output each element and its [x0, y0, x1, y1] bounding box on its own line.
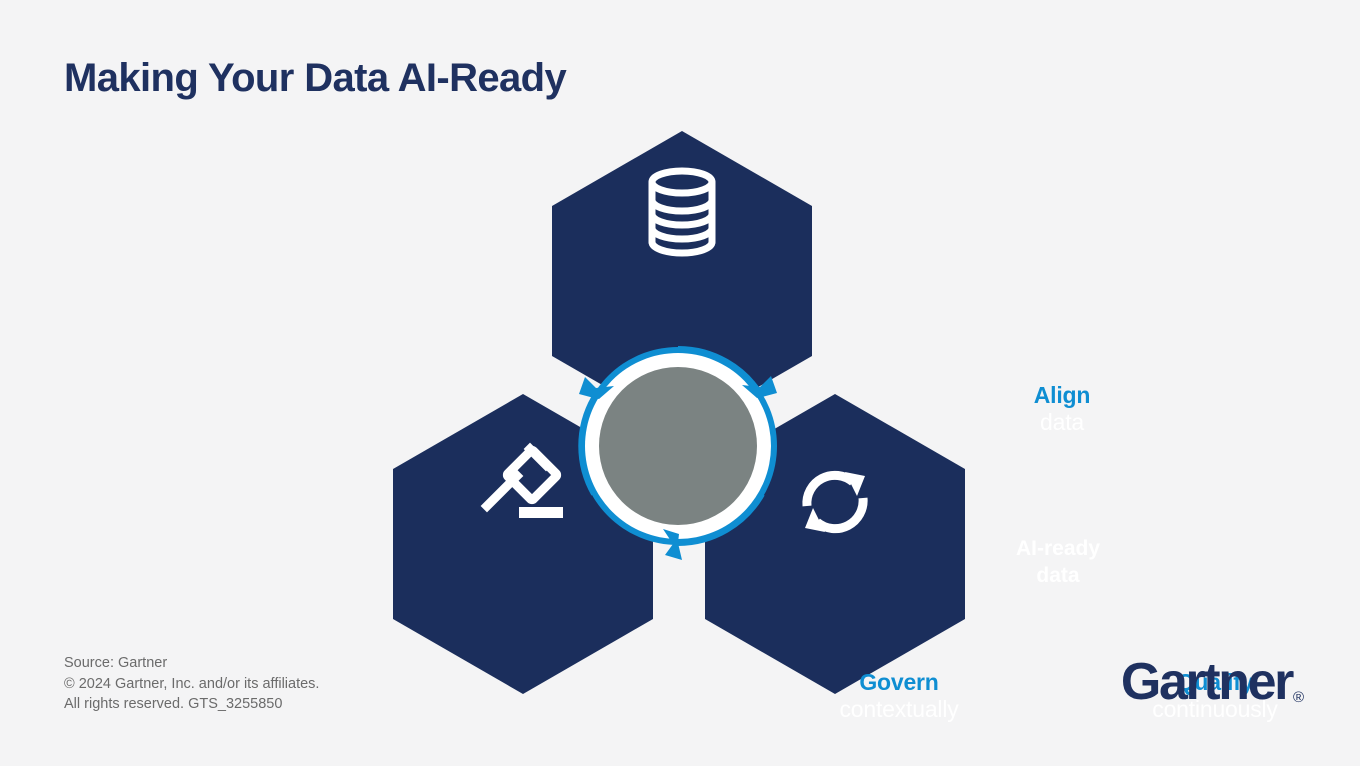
source-attribution: Source: Gartner © 2024 Gartner, Inc. and… — [64, 653, 319, 715]
slide-canvas: Making Your Data AI-Ready — [0, 0, 1360, 766]
registered-trademark-icon: ® — [1293, 690, 1304, 705]
rights-line: All rights reserved. GTS_3255850 — [64, 694, 319, 715]
hexagon-keyword-align: Align — [952, 382, 1172, 409]
center-label-line1: AI-ready — [978, 535, 1138, 562]
hexagon-cycle-diagram: Align data Govern contextually Qualify c… — [380, 120, 980, 720]
center-label: AI-ready data — [978, 535, 1138, 590]
center-label-line2: data — [978, 562, 1138, 589]
hexagon-label-align: Align data — [952, 382, 1172, 436]
center-disc — [599, 367, 757, 525]
page-title: Making Your Data AI-Ready — [64, 56, 566, 100]
gartner-logo: Gartner ® — [1121, 656, 1304, 708]
gartner-wordmark: Gartner — [1121, 656, 1292, 708]
hexagon-subtext-align: data — [952, 409, 1172, 436]
source-line: Source: Gartner — [64, 653, 319, 674]
copyright-line: © 2024 Gartner, Inc. and/or its affiliat… — [64, 674, 319, 695]
gavel-base — [519, 507, 563, 518]
